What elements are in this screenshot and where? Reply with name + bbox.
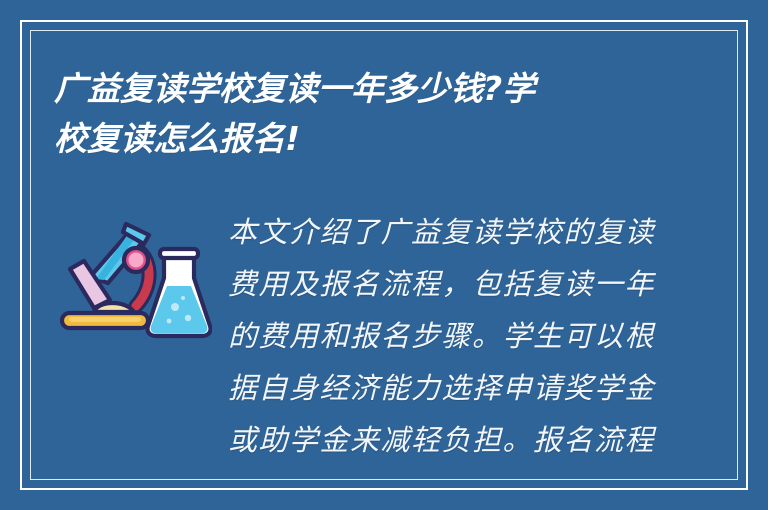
article-cover-card: 广益复读学校复读一年多少钱?学 校复读怎么报名!: [0, 0, 768, 510]
page-title-line-1: 广益复读学校复读一年多少钱?学: [54, 64, 664, 114]
page-title: 广益复读学校复读一年多少钱?学 校复读怎么报名!: [54, 64, 664, 164]
summary-line: 或助学金来减轻负担。报名流程: [228, 414, 660, 466]
summary-line: 费用及报名流程，包括复读一年: [228, 258, 660, 310]
page-title-line-2: 校复读怎么报名!: [54, 114, 664, 164]
summary-line: 的费用和报名步骤。学生可以根: [228, 310, 660, 362]
flask-icon: [147, 249, 210, 336]
summary-line: 据自身经济能力选择申请奖学金: [228, 362, 660, 414]
microscope-icon: [62, 224, 149, 328]
summary-line: 本文介绍了广益复读学校的复读: [228, 206, 660, 258]
microscope-flask-illustration: [52, 214, 212, 348]
article-summary: 本文介绍了广益复读学校的复读 费用及报名流程，包括复读一年 的费用和报名步骤。学…: [228, 206, 660, 478]
